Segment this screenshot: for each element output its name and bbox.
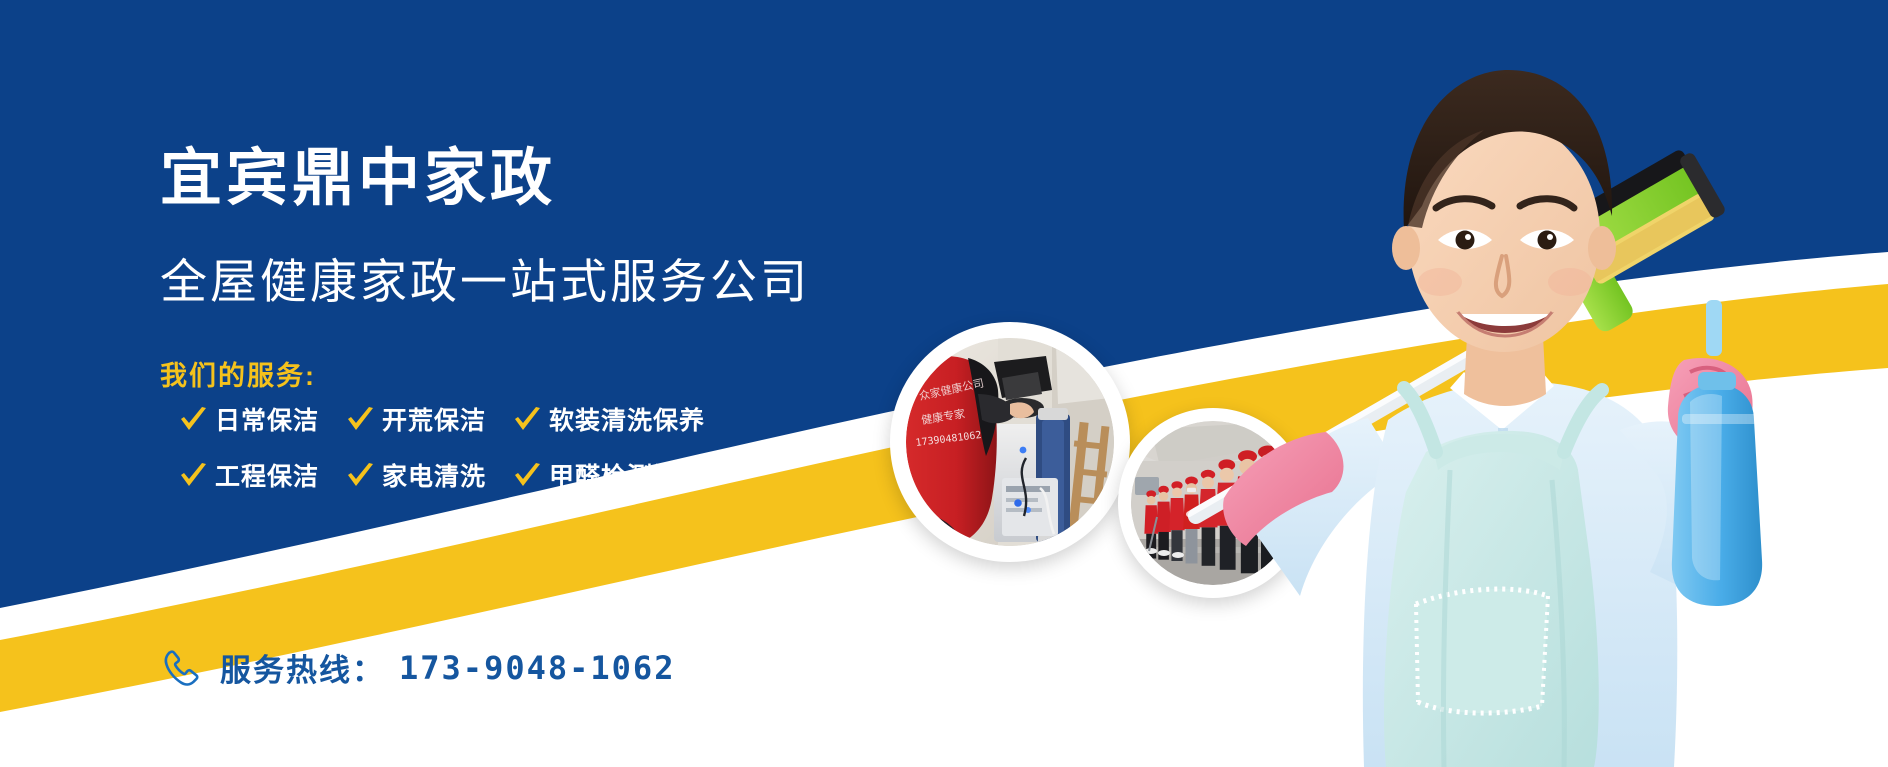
check-icon: [512, 406, 542, 436]
check-icon: [345, 462, 375, 492]
promo-banner: 宜宾鼎中家政 全屋健康家政一站式服务公司 我们的服务: 日常保洁 开荒保洁: [0, 0, 1888, 767]
page-subtitle: 全屋健康家政一站式服务公司: [160, 258, 810, 305]
services-row-1: 日常保洁 开荒保洁 软装清洗保养: [178, 406, 731, 436]
photo-worker-equipment-image: 众家健康公司 健康专家 17390481062: [906, 338, 1114, 546]
services-row-2: 工程保洁 家电清洗 甲醛检测治理: [178, 462, 731, 492]
service-label: 家电清洗: [382, 465, 486, 490]
photo-worker-equipment: 众家健康公司 健康专家 17390481062: [890, 322, 1130, 562]
service-item: 工程保洁: [178, 462, 319, 492]
service-item: 日常保洁: [178, 406, 319, 436]
service-item: 家电清洗: [345, 462, 486, 492]
service-label: 开荒保洁: [382, 409, 486, 434]
hotline-label: 服务热线：: [220, 645, 385, 690]
service-item: 软装清洗保养: [512, 406, 705, 436]
service-item: 甲醛检测治理: [512, 462, 705, 492]
check-icon: [345, 406, 375, 436]
phone-handset-icon: [160, 647, 202, 689]
page-title: 宜宾鼎中家政: [160, 148, 556, 210]
service-label: 软装清洗保养: [549, 409, 705, 434]
service-label: 日常保洁: [215, 409, 319, 434]
headline-block: 宜宾鼎中家政 全屋健康家政一站式服务公司 我们的服务: 日常保洁 开荒保洁: [0, 0, 900, 767]
service-label: 工程保洁: [215, 465, 319, 490]
service-label: 甲醛检测治理: [549, 465, 705, 490]
service-item: 开荒保洁: [345, 406, 486, 436]
hotline-number: 173-9048-1062: [399, 649, 675, 687]
spray-bottle: [1672, 300, 1762, 606]
services-heading: 我们的服务:: [160, 363, 316, 390]
check-icon: [512, 462, 542, 492]
check-icon: [178, 462, 208, 492]
check-icon: [178, 406, 208, 436]
hotline[interactable]: 服务热线： 173-9048-1062: [160, 645, 675, 690]
cleaner-woman-photo: [1150, 0, 1888, 767]
